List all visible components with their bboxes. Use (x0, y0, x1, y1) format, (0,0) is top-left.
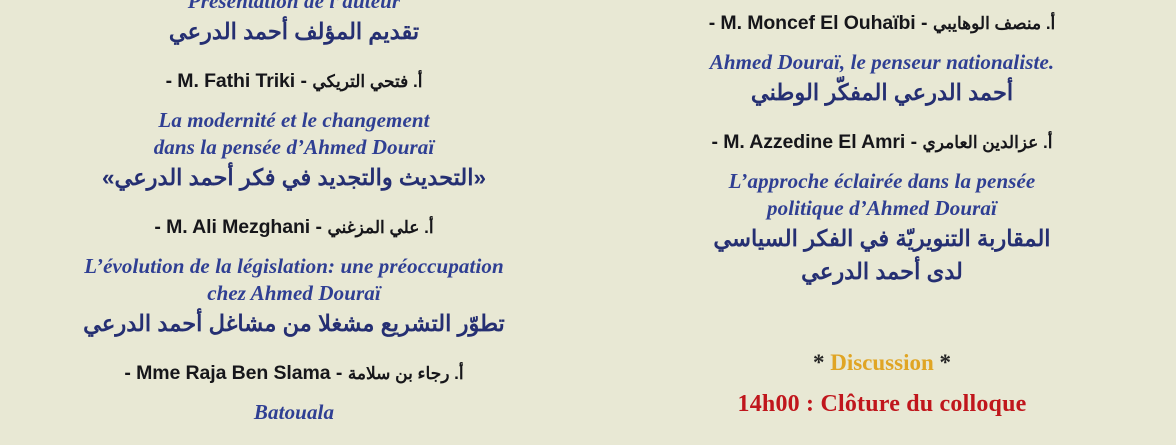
speaker-name-ar: أ. فتحي التريكي (312, 72, 422, 91)
program-column-right: أ. منصف الوهايبي - M. Moncef El Ouhaïbi … (588, 0, 1176, 445)
discussion-star-left: * (813, 350, 825, 375)
entry-gap (588, 109, 1176, 127)
speaker-name-fr: - M. Moncef El Ouhaïbi - (709, 12, 928, 34)
speaker-entry-ali-mezghani: أ. علي المزغني - M. Ali Mezghani - L’évo… (0, 212, 588, 340)
entry-gap (0, 48, 588, 66)
presentation-entry: Présentation de l’auteur تقديم المؤلف أح… (0, 0, 588, 48)
talk-title-fr-line1: La modernité et le changement (0, 107, 588, 134)
talk-title-fr-line1: Ahmed Douraï, le penseur nationaliste. (588, 49, 1176, 76)
section-gap (588, 288, 1176, 348)
talk-title-fr-line1: L’approche éclairée dans la pensée (588, 168, 1176, 195)
entry-gap (0, 194, 588, 212)
entry-gap (0, 340, 588, 358)
talk-title-fr-line2: politique d’Ahmed Douraï (588, 195, 1176, 222)
speaker-name-fr: - M. Fathi Triki - (166, 70, 307, 92)
discussion-star-right: * (940, 350, 952, 375)
speaker-name-fr: - M. Azzedine El Amri - (712, 131, 918, 153)
closing-gap (588, 378, 1176, 388)
speaker-name-ar: أ. علي المزغني (327, 218, 433, 237)
name-title-gap (0, 243, 588, 253)
speaker-entry-azzedine-el-amri: أ. عزالدين العامري - M. Azzedine El Amri… (588, 127, 1176, 288)
closing-line: 14h00 : Clôture du colloque (588, 388, 1176, 420)
speaker-name-line: أ. فتحي التريكي - M. Fathi Triki - (0, 66, 588, 97)
speaker-name-line: أ. علي المزغني - M. Ali Mezghani - (0, 212, 588, 243)
two-column-layout: Présentation de l’auteur تقديم المؤلف أح… (0, 0, 1176, 445)
name-title-gap (588, 158, 1176, 168)
discussion-label: Discussion (830, 350, 934, 375)
speaker-name-ar: أ. رجاء بن سلامة (348, 364, 464, 383)
program-column-left: Présentation de l’auteur تقديم المؤلف أح… (0, 0, 588, 445)
speaker-name-fr: - Mme Raja Ben Slama - (124, 362, 342, 384)
talk-title-fr-line1: Batouala (0, 399, 588, 426)
talk-title-fr-line2: dans la pensée d’Ahmed Douraï (0, 134, 588, 161)
speaker-name-line: أ. عزالدين العامري - M. Azzedine El Amri… (588, 127, 1176, 158)
presentation-title-fr: Présentation de l’auteur (0, 0, 588, 15)
speaker-name-line: أ. رجاء بن سلامة - Mme Raja Ben Slama - (0, 358, 588, 389)
name-title-gap (588, 39, 1176, 49)
speaker-name-ar: أ. منصف الوهايبي (933, 14, 1055, 33)
name-title-gap (0, 97, 588, 107)
speaker-entry-fathi-triki: أ. فتحي التريكي - M. Fathi Triki - La mo… (0, 66, 588, 194)
speaker-entry-raja-ben-slama: أ. رجاء بن سلامة - Mme Raja Ben Slama - … (0, 358, 588, 426)
speaker-name-line: أ. منصف الوهايبي - M. Moncef El Ouhaïbi … (588, 8, 1176, 39)
discussion-line: * Discussion * (588, 348, 1176, 378)
speaker-name-ar: أ. عزالدين العامري (923, 133, 1053, 152)
clipped-arabic-line (588, 0, 1176, 8)
presentation-title-ar: تقديم المؤلف أحمد الدرعي (0, 15, 588, 48)
talk-title-ar: «التحديث والتجديد في فكر أحمد الدرعي» (0, 161, 588, 194)
colloquium-program-page: Présentation de l’auteur تقديم المؤلف أح… (0, 0, 1176, 445)
speaker-name-fr: - M. Ali Mezghani - (154, 216, 322, 238)
talk-title-ar: أحمد الدرعي المفكّر الوطني (588, 76, 1176, 109)
talk-title-fr-line2: chez Ahmed Douraï (0, 280, 588, 307)
talk-title-ar-line2: لدى أحمد الدرعي (588, 255, 1176, 288)
talk-title-ar-line1: المقاربة التنويريّة في الفكر السياسي (588, 222, 1176, 255)
talk-title-ar: تطوّر التشريع مشغلا من مشاغل أحمد الدرعي (0, 307, 588, 340)
talk-title-fr-line1: L’évolution de la législation: une préoc… (0, 253, 588, 280)
speaker-entry-moncef-el-ouhaibi: أ. منصف الوهايبي - M. Moncef El Ouhaïbi … (588, 8, 1176, 109)
name-title-gap (0, 389, 588, 399)
